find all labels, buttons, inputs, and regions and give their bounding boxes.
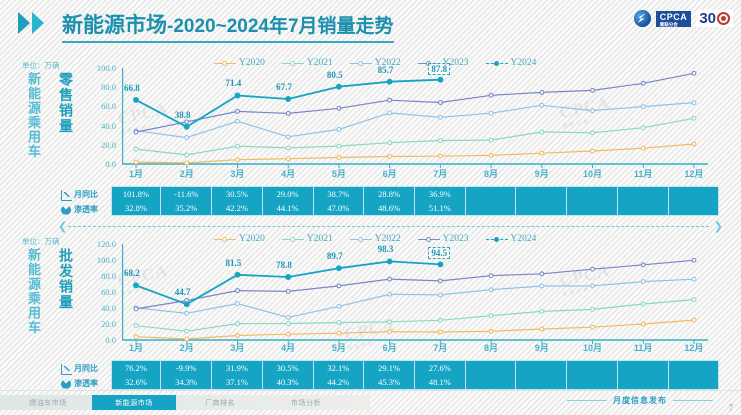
table-cell-mom: 101.8% <box>111 186 162 201</box>
month-header: 2月 <box>161 341 212 354</box>
legend-swatch-icon <box>486 234 508 244</box>
month-header: 12月 <box>669 341 720 354</box>
month-header: 4月 <box>263 341 314 354</box>
table-cell-mom <box>516 186 567 201</box>
table-cell-mom: -11.6% <box>161 186 212 201</box>
y-axis-tick: 120.0 <box>84 239 116 249</box>
table-cell-mom: 28.8% <box>364 186 415 201</box>
table-cell-penetration <box>567 375 618 390</box>
legend-item-Y2021[interactable]: Y2021 <box>282 234 333 244</box>
legend-label: Y2021 <box>307 234 333 244</box>
month-header: 7月 <box>415 167 466 180</box>
table-cell-penetration: 32.6% <box>111 375 162 390</box>
table-cell-mom: 31.9% <box>212 360 263 375</box>
chart-legend-wholesale: Y2020Y2021Y2022Y2023Y2024 <box>214 234 536 244</box>
table-cell-mom: 29.0% <box>263 186 314 201</box>
line-chart-retail <box>122 68 712 178</box>
legend-label: Y2021 <box>307 58 333 68</box>
month-header: 8月 <box>466 167 517 180</box>
legend-label: Y2024 <box>511 234 537 244</box>
table-cell-penetration: 47.0% <box>314 201 365 216</box>
data-label: 71.4 <box>225 78 241 88</box>
table-cell-penetration: 35.2% <box>161 201 212 216</box>
line-chart-icon <box>61 190 71 200</box>
data-label: 66.8 <box>124 83 140 93</box>
legend-swatch-icon <box>214 58 236 68</box>
month-header: 12月 <box>669 167 720 180</box>
unit-label-wholesale: 单位：万辆 <box>22 236 60 247</box>
legend-label: Y2020 <box>239 234 265 244</box>
y-axis-tick: 100.0 <box>84 63 116 73</box>
page-title-sub: -2020~2024年7月销量走势 <box>167 16 394 37</box>
category-label-retail: 新能源乘用车 <box>24 72 43 174</box>
data-label: 94.5 <box>428 247 450 259</box>
y-axis-tick: 100.0 <box>84 255 116 265</box>
footer-tab-active[interactable]: 新能源市场 <box>92 395 176 410</box>
table-cell-penetration: 42.2% <box>212 201 263 216</box>
table-cell-mom <box>618 186 669 201</box>
table-cell-penetration: 32.8% <box>111 201 162 216</box>
data-label: 81.5 <box>225 258 241 268</box>
anniversary-badge: 30 <box>696 10 733 27</box>
month-header: 11月 <box>618 341 669 354</box>
chart-legend-retail: Y2020Y2021Y2022Y2023Y2024 <box>214 58 536 68</box>
category-label-wholesale: 新能源乘用车 <box>24 248 43 350</box>
table-cell-penetration <box>466 375 517 390</box>
legend-swatch-icon <box>282 234 304 244</box>
panel-divider-dashed: ❮ ❯ <box>58 222 723 232</box>
legend-swatch-icon <box>214 234 236 244</box>
arrow-right-icon: ❯ <box>714 222 723 232</box>
legend-label: Y2023 <box>443 234 469 244</box>
cpca-emblem-icon <box>634 10 651 27</box>
table-cell-mom <box>516 360 567 375</box>
cpca-wordmark: CPCA 乘联分会 <box>656 11 692 27</box>
y-axis-tick: 20.0 <box>84 140 116 150</box>
legend-item-Y2024[interactable]: Y2024 <box>486 58 537 68</box>
data-label: 38.8 <box>175 110 191 120</box>
data-label: 98.3 <box>378 244 394 254</box>
table-cell-penetration: 51.1% <box>415 201 466 216</box>
legend-item-Y2022[interactable]: Y2022 <box>350 234 401 244</box>
month-header: 3月 <box>212 167 263 180</box>
table-cell-penetration <box>669 201 720 216</box>
y-axis-tick: 80.0 <box>84 82 116 92</box>
y-axis-tick: 80.0 <box>84 271 116 281</box>
footer-tab-inactive[interactable]: 市场分析 <box>264 395 348 410</box>
row-label-penetration-wholesale: 渗透率 <box>61 378 98 389</box>
data-label: 44.7 <box>175 287 191 297</box>
footer-divider <box>0 390 741 391</box>
page-number: 7 <box>729 403 734 413</box>
legend-item-Y2020[interactable]: Y2020 <box>214 234 265 244</box>
anniversary-number: 30 <box>699 11 716 26</box>
table-cell-mom: 76.2% <box>111 360 162 375</box>
month-header: 5月 <box>314 167 365 180</box>
table-cell-mom: 38.7% <box>314 186 365 201</box>
legend-item-Y2024[interactable]: Y2024 <box>486 234 537 244</box>
table-cell-mom: 30.5% <box>212 186 263 201</box>
table-cell-mom <box>466 186 517 201</box>
anniversary-ring-icon <box>717 12 730 25</box>
month-header: 8月 <box>466 341 517 354</box>
table-cell-penetration: 48.6% <box>364 201 415 216</box>
arrow-left-icon: ❮ <box>58 222 67 232</box>
month-header: 7月 <box>415 341 466 354</box>
panel-wholesale: ❮ ❯ CPCA乘联分会 CPCA乘联分会 CPCA乘联分会 单位：万辆 新能源… <box>0 222 741 390</box>
footer-note: 月度信息发布 <box>567 395 713 406</box>
y-axis-tick: 40.0 <box>84 121 116 131</box>
metric-label-wholesale: 批发销量 <box>56 248 76 338</box>
table-cell-penetration <box>516 201 567 216</box>
table-cell-mom: 36.9% <box>415 186 466 201</box>
footer-note-text: 月度信息发布 <box>613 395 667 406</box>
legend-label: Y2022 <box>375 234 401 244</box>
month-header: 1月 <box>111 167 162 180</box>
line-chart-icon <box>61 364 71 374</box>
logo-group: CPCA 乘联分会 30 <box>634 10 733 27</box>
table-cell-mom <box>567 360 618 375</box>
legend-swatch-icon <box>282 58 304 68</box>
chevron-right-icon <box>18 12 58 34</box>
row-label-mom-retail: 月同比 <box>61 189 98 200</box>
table-cell-mom <box>567 186 618 201</box>
month-header: 2月 <box>161 167 212 180</box>
month-header: 3月 <box>212 341 263 354</box>
month-header: 9月 <box>516 167 567 180</box>
table-cell-penetration: 44.2% <box>314 375 365 390</box>
table-cell-mom: 32.1% <box>314 360 365 375</box>
legend-item-Y2020[interactable]: Y2020 <box>214 58 265 68</box>
table-cell-penetration <box>669 375 720 390</box>
month-header: 11月 <box>618 167 669 180</box>
y-axis-tick: 40.0 <box>84 303 116 313</box>
legend-swatch-icon <box>350 58 372 68</box>
y-axis-tick: 60.0 <box>84 101 116 111</box>
table-cell-penetration: 48.1% <box>415 375 466 390</box>
table-cell-penetration <box>618 375 669 390</box>
y-axis-tick: 20.0 <box>84 319 116 329</box>
table-cell-mom: 27.6% <box>415 360 466 375</box>
page-title-main: 新能源市场 <box>62 14 167 37</box>
unit-label-retail: 单位：万辆 <box>22 60 60 71</box>
month-header: 4月 <box>263 167 314 180</box>
page-title: 新能源市场-2020~2024年7月销量走势 <box>62 9 394 43</box>
pie-chart-icon <box>61 379 71 389</box>
month-header: 10月 <box>567 167 618 180</box>
table-cell-penetration: 37.1% <box>212 375 263 390</box>
data-label: 78.8 <box>276 260 292 270</box>
table-cell-mom: 30.5% <box>263 360 314 375</box>
metric-label-retail: 零售销量 <box>56 72 76 162</box>
table-cell-mom <box>669 186 720 201</box>
footer-tabs[interactable]: 燃油车市场新能源市场厂商排名市场分析 <box>6 395 348 410</box>
data-label: 89.7 <box>327 251 343 261</box>
legend-label: Y2024 <box>511 58 537 68</box>
legend-label: Y2020 <box>239 58 265 68</box>
legend-item-Y2023[interactable]: Y2023 <box>418 234 469 244</box>
legend-swatch-icon <box>350 234 372 244</box>
table-cell-mom <box>669 360 720 375</box>
month-header: 9月 <box>516 341 567 354</box>
month-header: 1月 <box>111 341 162 354</box>
month-header: 5月 <box>314 341 365 354</box>
data-label: 87.8 <box>428 63 450 75</box>
table-cell-mom <box>618 360 669 375</box>
month-header: 10月 <box>567 341 618 354</box>
slide-page: 新能源市场-2020~2024年7月销量走势 CPCA 乘联分会 30 CPCA… <box>0 0 741 415</box>
slide-header: 新能源市场-2020~2024年7月销量走势 CPCA 乘联分会 30 <box>0 0 741 44</box>
table-cell-penetration <box>516 375 567 390</box>
line-chart-wholesale <box>122 244 712 354</box>
slide-footer: 燃油车市场新能源市场厂商排名市场分析 月度信息发布 7 <box>0 392 741 415</box>
month-header: 6月 <box>364 341 415 354</box>
data-label: 80.5 <box>327 70 343 80</box>
data-label: 68.2 <box>124 268 140 278</box>
table-cell-penetration: 34.3% <box>161 375 212 390</box>
footer-tab-inactive[interactable]: 厂商排名 <box>178 395 262 410</box>
month-header: 6月 <box>364 167 415 180</box>
table-cell-penetration: 40.3% <box>263 375 314 390</box>
row-label-penetration-retail: 渗透率 <box>61 204 98 215</box>
table-cell-mom: -9.9% <box>161 360 212 375</box>
data-label: 67.7 <box>276 82 292 92</box>
legend-swatch-icon <box>418 234 440 244</box>
row-label-mom-wholesale: 月同比 <box>61 363 98 374</box>
table-cell-penetration <box>618 201 669 216</box>
y-axis-tick: 60.0 <box>84 287 116 297</box>
legend-swatch-icon <box>486 58 508 68</box>
table-cell-penetration <box>466 201 517 216</box>
table-cell-penetration: 44.1% <box>263 201 314 216</box>
table-cell-penetration <box>567 201 618 216</box>
panel-retail: CPCA乘联分会 CPCA乘联分会 单位：万辆 新能源乘用车 零售销量 Y202… <box>0 46 741 222</box>
data-label: 85.7 <box>378 65 394 75</box>
legend-item-Y2021[interactable]: Y2021 <box>282 58 333 68</box>
table-cell-mom <box>466 360 517 375</box>
table-cell-mom: 29.1% <box>364 360 415 375</box>
footer-tab-inactive[interactable]: 燃油车市场 <box>6 395 90 410</box>
table-cell-penetration: 45.3% <box>364 375 415 390</box>
pie-chart-icon <box>61 205 71 215</box>
